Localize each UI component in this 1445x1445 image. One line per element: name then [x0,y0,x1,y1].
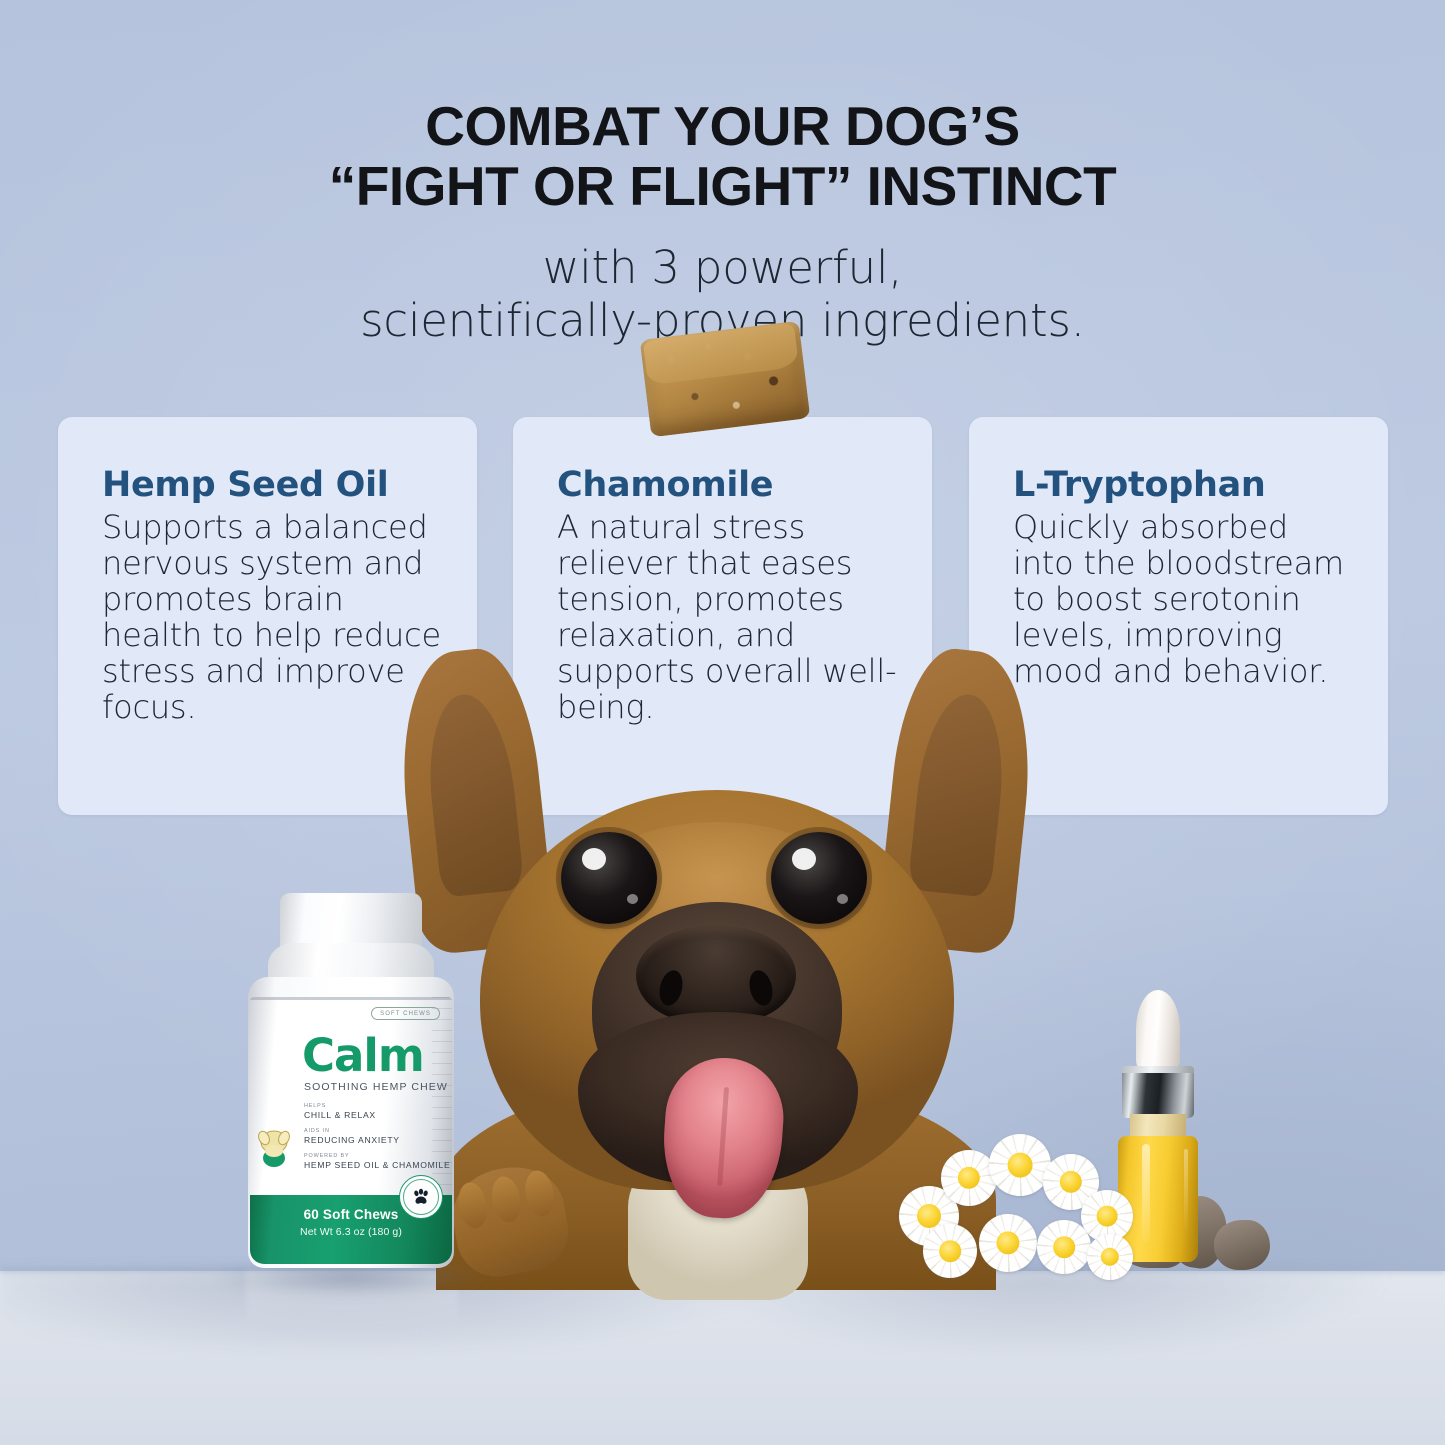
chew-count: 60 Soft Chews [250,1207,452,1222]
chamomile-bloom [923,1224,977,1278]
claim-key: HELPS [304,1103,452,1110]
chamomile-bloom [989,1134,1051,1196]
claim-key: POWERED BY [304,1153,452,1160]
claim-value: REDUCING ANXIETY [304,1135,452,1146]
product-bottle: PetJoy HAPPY HEALTHY PETS SOFT CHEWS Cal… [240,893,462,1268]
bloom-disc [1053,1236,1075,1258]
dog-nostril-left [656,968,686,1008]
ingredient-title: Chamomile [557,465,898,505]
headline-block: COMBAT YOUR DOG’S “FIGHT OR FLIGHT” INST… [0,96,1445,347]
dog-nose [636,926,796,1022]
root-lobe [1214,1220,1270,1270]
claim-value: HEMP SEED OIL & CHAMOMILE [304,1160,452,1171]
dog-ear-inner [907,690,1010,898]
label-claim-helps: HELPS CHILL & RELAX [304,1103,452,1121]
headline-line-2: “FIGHT OR FLIGHT” INSTINCT [0,156,1445,216]
ingredient-description: Quickly absorbed into the bloodstream to… [1013,509,1354,689]
claim-key: AIDS IN [304,1128,452,1135]
bloom-disc [1008,1153,1033,1178]
product-subtitle: SOOTHING HEMP CHEW [304,1081,450,1093]
ingredient-title: L-Tryptophan [1013,465,1354,505]
infographic-stage: COMBAT YOUR DOG’S “FIGHT OR FLIGHT” INST… [0,0,1445,1445]
dropper-collar [1122,1066,1194,1118]
ingredient-description: Supports a balanced nervous system and p… [102,509,443,725]
petjoy-dog-logo-icon [258,1129,290,1169]
label-claim-aids-in: AIDS IN REDUCING ANXIETY [304,1128,452,1146]
chamomile-bloom [1037,1220,1091,1274]
bloom-disc [1097,1206,1118,1227]
dog-nostril-right [746,968,776,1008]
claim-value: CHILL & RELAX [304,1110,452,1121]
ingredient-title: Hemp Seed Oil [102,465,443,505]
dog-eye-left [561,832,657,924]
subheadline-line-1: with 3 powerful, [0,241,1445,294]
chamomile-bloom [1087,1234,1133,1280]
dog-eye-right [771,832,867,924]
dog-toe [488,1174,524,1224]
product-name: Calm [302,1033,444,1079]
bottle-label: PetJoy HAPPY HEALTHY PETS SOFT CHEWS Cal… [250,997,452,1264]
soft-chew-treat [640,321,811,438]
bloom-disc [939,1240,961,1262]
label-top-rule [250,997,452,1000]
headline-line-1: COMBAT YOUR DOG’S [0,96,1445,156]
label-claim-powered-by: POWERED BY HEMP SEED OIL & CHAMOMILE [304,1153,452,1171]
dog-ear-inner [421,690,524,898]
net-weight: Net Wt 6.3 oz (180 g) [250,1226,452,1238]
chamomile-flowers [893,1128,1143,1273]
dropper-bulb [1136,990,1180,1072]
soft-chews-badge: SOFT CHEWS [371,1007,440,1020]
chamomile-bloom [979,1214,1037,1272]
